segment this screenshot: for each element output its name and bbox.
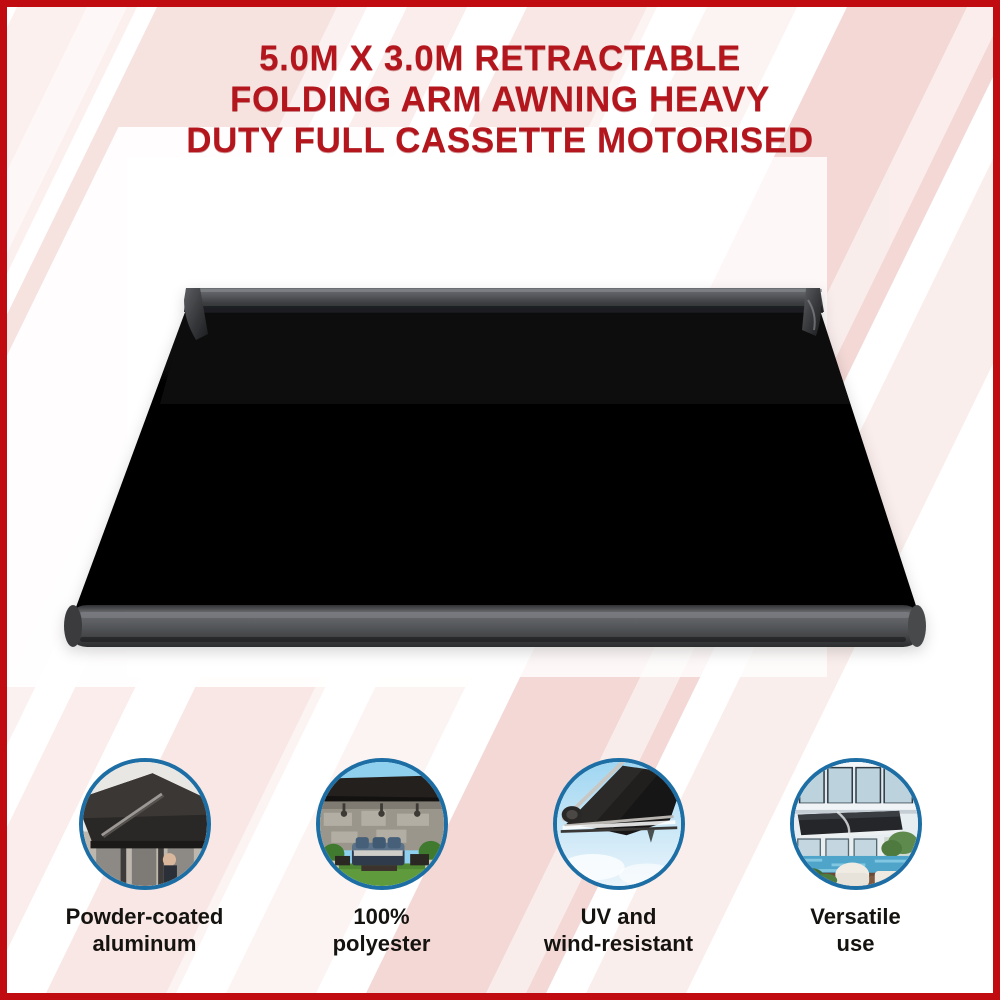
feature-item-powder-coated-aluminum[interactable]: Powder-coated aluminum bbox=[26, 758, 263, 970]
feature-label-3: UV and wind-resistant bbox=[544, 903, 693, 957]
feature-label-3-line2: wind-resistant bbox=[544, 931, 693, 956]
feature-item-versatile-use[interactable]: Versatile use bbox=[737, 758, 974, 970]
feature-circle-3[interactable] bbox=[553, 758, 685, 890]
product-title: 5.0M X 3.0M RETRACTABLE FOLDING ARM AWNI… bbox=[0, 38, 1000, 161]
product-marketing-image: 5.0M X 3.0M RETRACTABLE FOLDING ARM AWNI… bbox=[0, 0, 1000, 1000]
awning-powder-coated-icon bbox=[83, 762, 207, 886]
feature-label-4: Versatile use bbox=[810, 903, 901, 957]
feature-label-1-line1: Powder-coated bbox=[66, 904, 224, 929]
feature-circle-2[interactable] bbox=[316, 758, 448, 890]
feature-item-polyester[interactable]: 100% polyester bbox=[263, 758, 500, 970]
feature-circle-1[interactable] bbox=[79, 758, 211, 890]
patio-polyester-fabric-icon bbox=[320, 762, 444, 886]
feature-label-1-line2: aluminum bbox=[93, 931, 197, 956]
feature-circle-4[interactable] bbox=[790, 758, 922, 890]
modern-house-pool-icon bbox=[794, 762, 918, 886]
title-line-2: FOLDING ARM AWNING HEAVY bbox=[0, 79, 1000, 120]
feature-list: Powder-coated aluminum bbox=[26, 758, 974, 970]
feature-item-uv-wind-resistant[interactable]: UV and wind-resistant bbox=[500, 758, 737, 970]
feature-label-2: 100% polyester bbox=[333, 903, 431, 957]
feature-label-3-line1: UV and bbox=[581, 904, 657, 929]
feature-label-2-line1: 100% bbox=[353, 904, 409, 929]
feature-label-2-line2: polyester bbox=[333, 931, 431, 956]
feature-label-1: Powder-coated aluminum bbox=[66, 903, 224, 957]
feature-label-4-line2: use bbox=[837, 931, 875, 956]
feature-label-4-line1: Versatile bbox=[810, 904, 901, 929]
awning-underside-sky-icon bbox=[557, 762, 681, 886]
title-line-3: DUTY FULL CASSETTE MOTORISED bbox=[0, 120, 1000, 161]
title-line-1: 5.0M X 3.0M RETRACTABLE bbox=[0, 38, 1000, 79]
